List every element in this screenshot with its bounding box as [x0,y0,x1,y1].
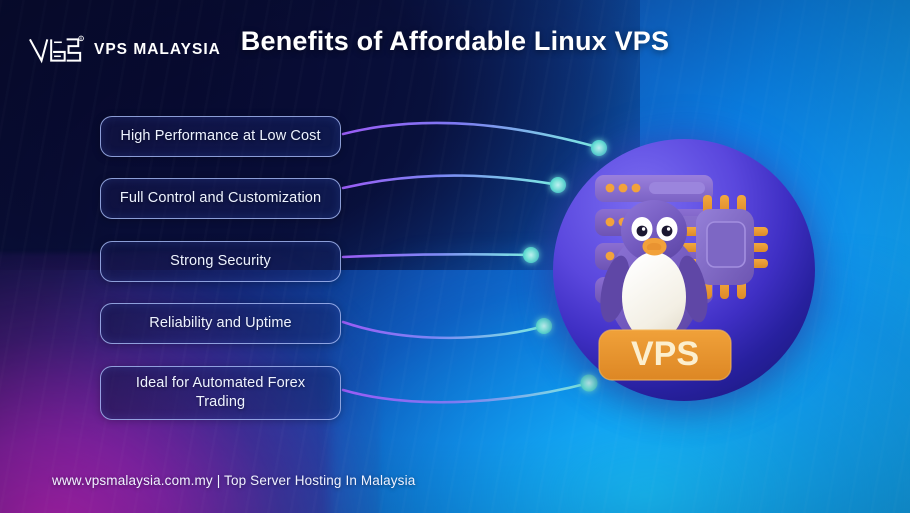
footer-website-text[interactable]: www.vpsmalaysia.com.my | Top Server Host… [52,473,415,488]
benefit-box-high-performance-at-low-cost[interactable]: High Performance at Low Cost [100,116,341,157]
benefit-label: Reliability and Uptime [149,314,291,333]
benefit-box-reliability-and-uptime[interactable]: Reliability and Uptime [100,303,341,344]
benefit-box-full-control-and-customization[interactable]: Full Control and Customization [100,178,341,219]
benefit-label: Strong Security [170,252,271,271]
page-title: Benefits of Affordable Linux VPS [0,26,910,57]
infographic-poster: R VPS MALAYSIA Benefits of Affordable Li… [0,0,910,513]
benefit-label: High Performance at Low Cost [120,127,320,146]
benefit-box-strong-security[interactable]: Strong Security [100,241,341,282]
benefit-label: Full Control and Customization [120,189,321,208]
linux-vps-illustration: VPS [553,139,815,401]
vps-plate-label: VPS [599,330,731,380]
benefit-box-ideal-for-automated-forex-trading[interactable]: Ideal for Automated Forex Trading [100,366,341,420]
benefit-label: Ideal for Automated Forex Trading [113,374,328,411]
vps-plate-text: VPS [631,335,699,373]
